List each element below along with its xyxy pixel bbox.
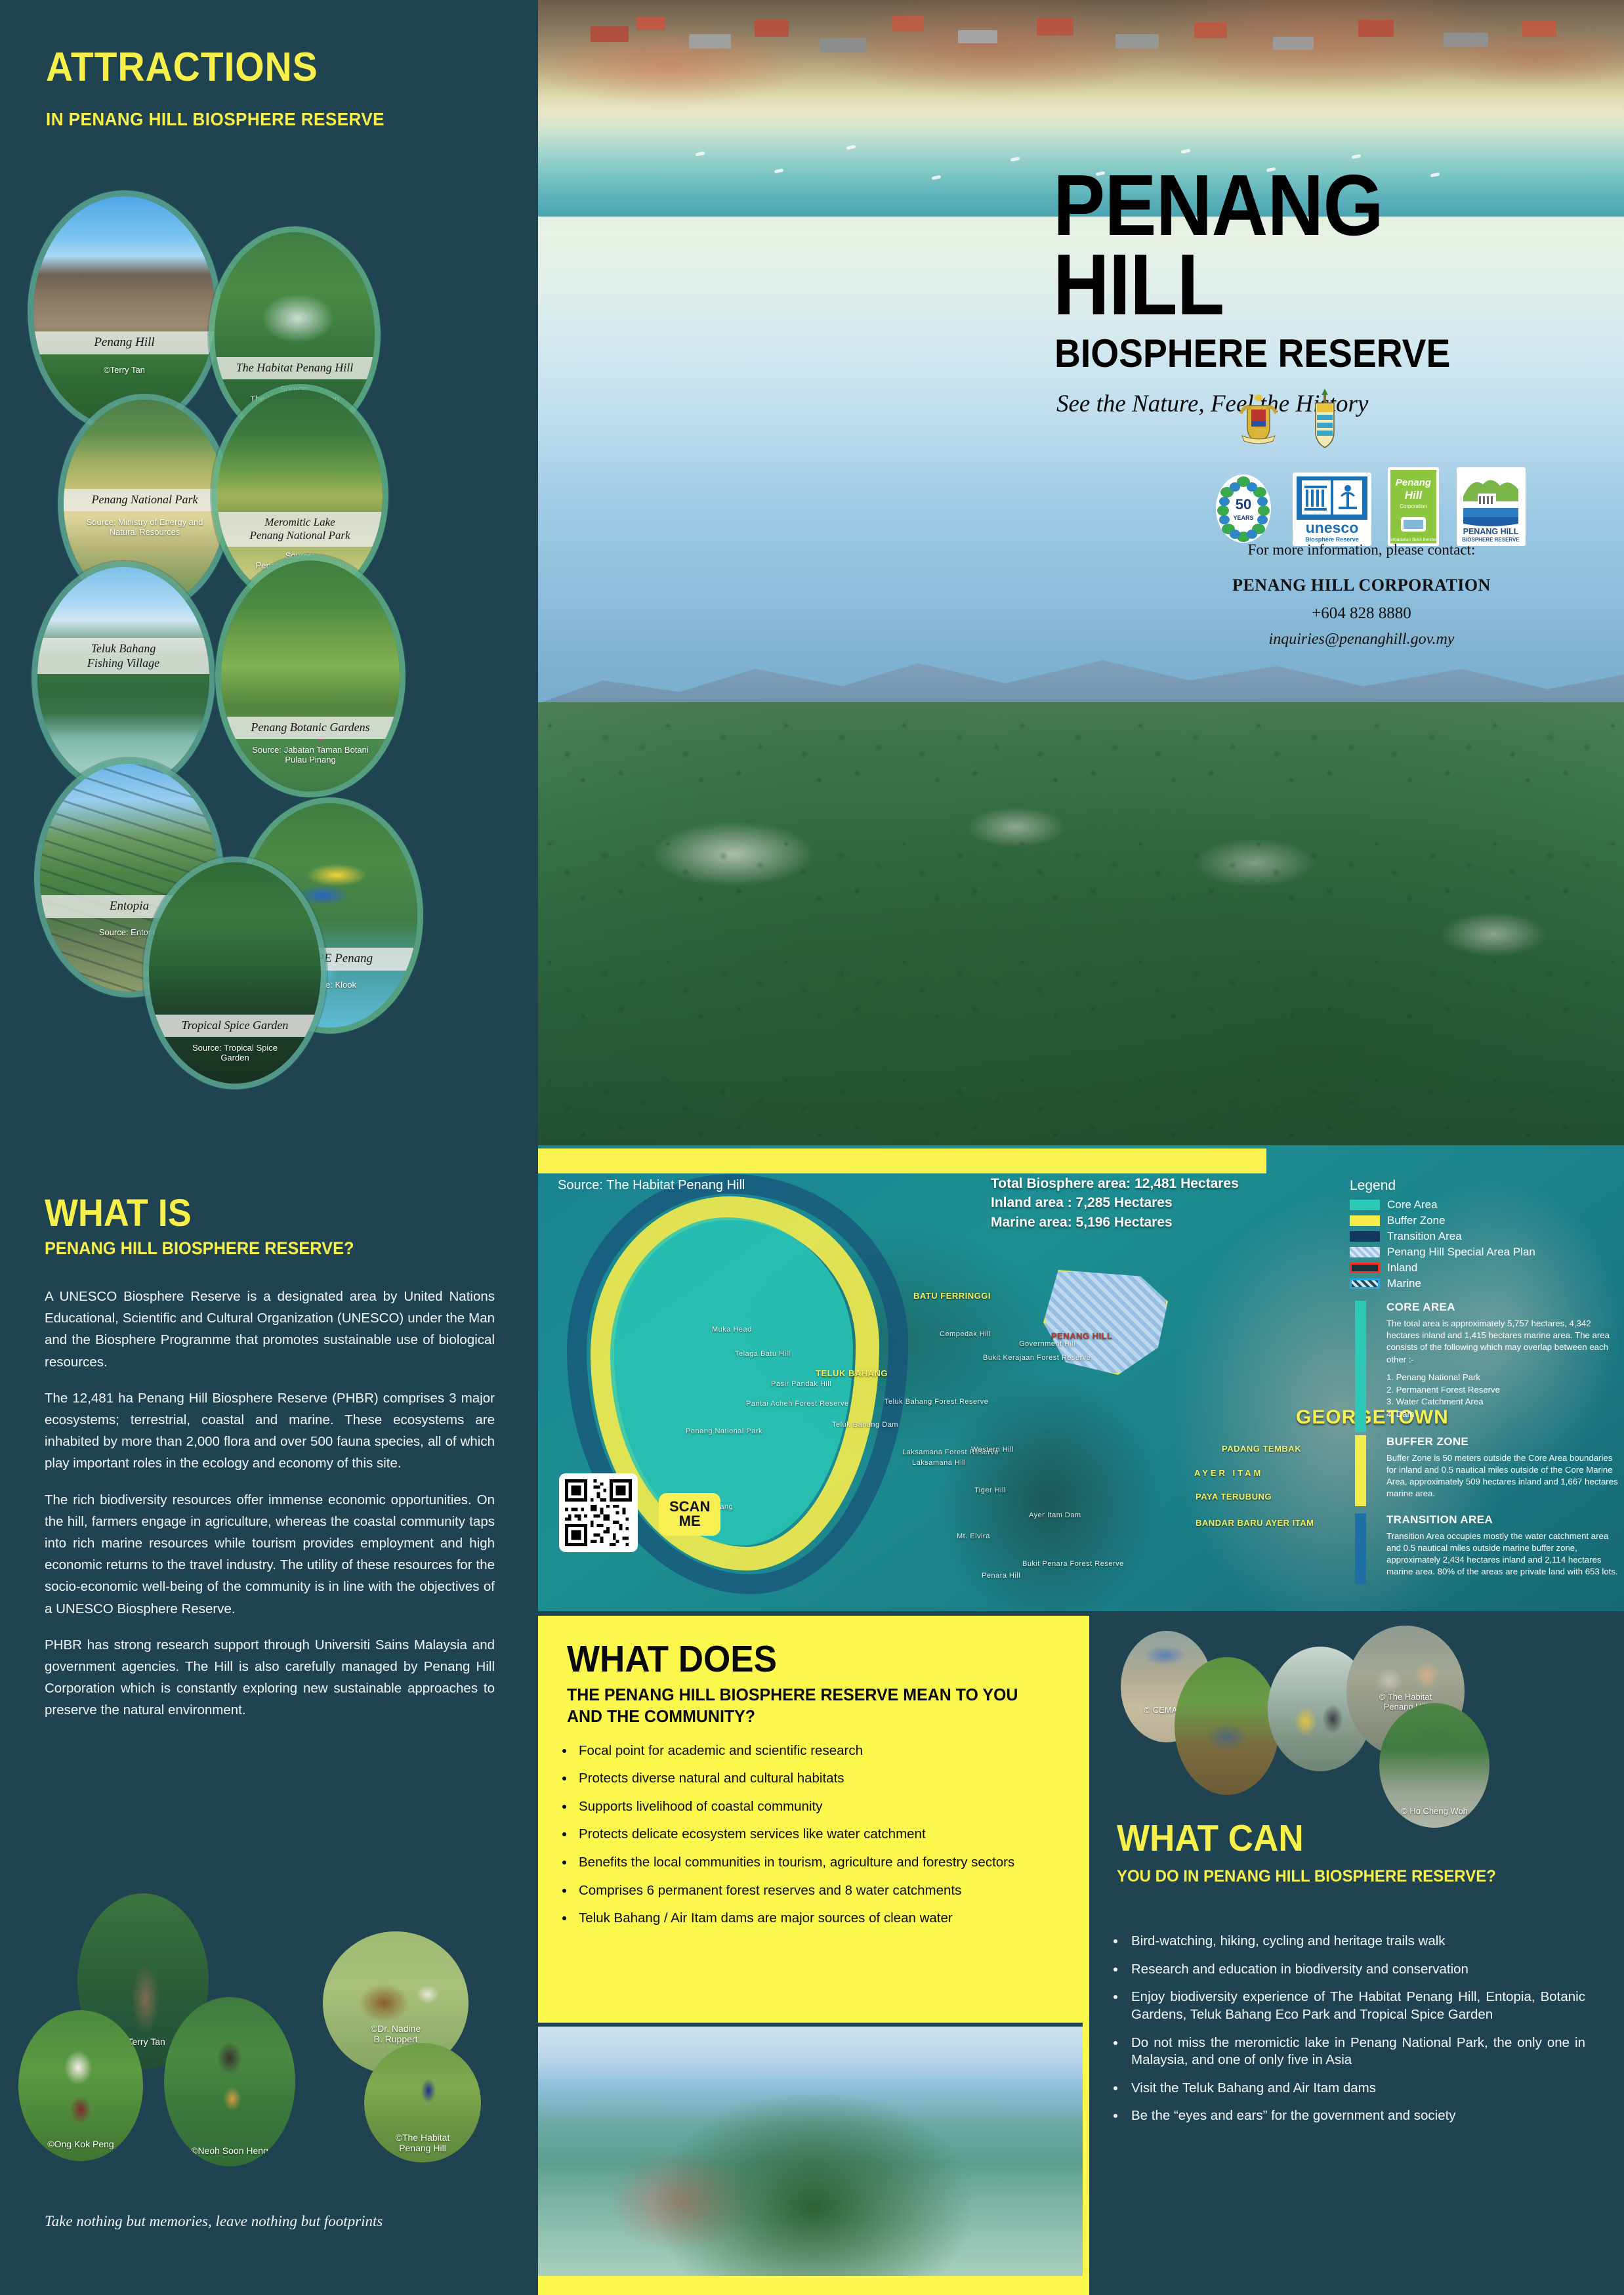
photo-credit: ©Neoh Soon Heng	[164, 2145, 295, 2156]
map-label-bukit-penara-fr: Bukit Penara Forest Reserve	[1022, 1560, 1124, 1568]
map-label-muka-head: Muka Head	[712, 1326, 752, 1334]
svg-text:YEARS: YEARS	[1233, 515, 1253, 521]
legend-heading: CORE AREA	[1386, 1301, 1619, 1314]
legend-label: Buffer Zone	[1387, 1214, 1446, 1227]
legend-list-item: 2. Permanent Forest Reserve	[1386, 1384, 1619, 1397]
attractions-subtitle: IN PENANG HILL BIOSPHERE RESERVE	[46, 109, 385, 130]
legend-swatch-marine	[1350, 1278, 1380, 1289]
attraction-source: Source: Ministry of Energy and Natural R…	[64, 518, 226, 537]
attraction-caption: Penang National Park	[64, 489, 226, 511]
what-can-subtitle: YOU DO IN PENANG HILL BIOSPHERE RESERVE?	[1117, 1866, 1558, 1887]
photo-credit: © Ho Cheng Woh	[1379, 1807, 1489, 1817]
penang-state-crest-logo	[1309, 387, 1341, 450]
list-item: Visit the Teluk Bahang and Air Itam dams	[1126, 2080, 1585, 2097]
legend-body: Transition Area occupies mostly the wate…	[1386, 1530, 1619, 1578]
what-is-paragraph: The rich biodiversity resources offer im…	[45, 1489, 495, 1620]
list-item: Protects delicate ecosystem services lik…	[575, 1826, 1060, 1843]
map-label-teluk-bahang-fr: Teluk Bahang Forest Reserve	[885, 1398, 988, 1406]
legend-list-item: 4. Dam	[1386, 1408, 1619, 1421]
photo-credit: ©The Habitat Penang Hill	[364, 2132, 481, 2153]
legend-list-item: 1. Penang National Park	[1386, 1372, 1619, 1384]
legend-list: 1. Penang National Park 2. Permanent For…	[1386, 1372, 1619, 1421]
map-label-cempedak-hill: Cempedak Hill	[940, 1330, 991, 1338]
yellow-side-strip	[1083, 2023, 1089, 2295]
attraction-caption: Tropical Spice Garden	[149, 1015, 321, 1037]
photo-credit: ©Dr. Nadine B. Ruppert	[323, 2023, 468, 2044]
contact-org: PENANG HILL CORPORATION	[1220, 576, 1503, 595]
wildlife-photo-dusky-langur: ©Neoh Soon Heng	[164, 1997, 295, 2166]
legend-block-core-area: CORE AREA The total area is approximatel…	[1350, 1301, 1619, 1429]
yellow-footer-strip	[538, 2276, 1089, 2295]
hero-forest-photo	[538, 702, 1624, 1145]
legend-swatch-inland	[1350, 1263, 1380, 1273]
list-item: Enjoy biodiversity experience of The Hab…	[1126, 1989, 1585, 2023]
qr-scan-block[interactable]: SCAN ME	[559, 1473, 638, 1552]
attraction-tropical-spice-garden: Tropical Spice Garden Source: Tropical S…	[143, 856, 327, 1089]
legend-row-buffer-zone: Buffer Zone	[1350, 1214, 1619, 1227]
map-label-bukit-kerajaan: Bukit Kerajaan Forest Reserve	[983, 1354, 1091, 1362]
legend-body: Buffer Zone is 50 meters outside the Cor…	[1386, 1452, 1619, 1500]
what-does-panel: WHAT DOES THE PENANG HILL BIOSPHERE RESE…	[538, 1616, 1089, 2023]
unesco-biosphere-reserve-logo: unesco Biosphere Reserve	[1293, 473, 1371, 546]
map-stat-marine: Marine area: 5,196 Hectares	[991, 1213, 1239, 1232]
svg-text:50: 50	[1236, 496, 1251, 513]
what-does-title: WHAT DOES	[567, 1641, 1026, 1678]
yellow-divider-bar	[538, 1148, 1266, 1173]
attraction-caption: Penang Botanic Gardens	[221, 717, 400, 739]
map-area-stats: Total Biosphere area: 12,481 Hectares In…	[991, 1174, 1239, 1232]
map-label-batu-ferringgi: BATU FERRINGGI	[913, 1291, 991, 1301]
map-label-ayer-itam-dam: Ayer Itam Dam	[1029, 1511, 1081, 1519]
map-label-ayer-itam: AYER ITAM	[1194, 1468, 1263, 1478]
contact-block: For more information, please contact: PE…	[1220, 541, 1503, 648]
map-stat-total: Total Biosphere area: 12,481 Hectares	[991, 1174, 1239, 1193]
map-label-mt-elvira: Mt. Elvira	[957, 1532, 990, 1540]
legend-block-buffer-zone: BUFFER ZONE Buffer Zone is 50 meters out…	[1350, 1435, 1619, 1507]
contact-email[interactable]: inquiries@penanghill.gov.my	[1220, 631, 1503, 648]
map-label-pasir-pandak: Pasir Pandak Hill	[771, 1380, 831, 1388]
hero-title-line2: HILL	[1053, 245, 1383, 324]
map-label-tiger-hill: Tiger Hill	[974, 1486, 1006, 1494]
legend-bar-transition-area	[1355, 1513, 1366, 1584]
attraction-source: Source: Tropical Spice Garden	[149, 1043, 321, 1063]
list-item: Supports livelihood of coastal community	[575, 1798, 1060, 1816]
what-does-list: Focal point for academic and scientific …	[575, 1742, 1060, 1927]
hero-title: PENANG HILL	[1053, 165, 1383, 325]
list-item: Focal point for academic and scientific …	[575, 1742, 1060, 1760]
map-label-penara-hill: Penara Hill	[982, 1572, 1020, 1580]
legend-label: Transition Area	[1387, 1230, 1462, 1243]
legend-heading: TRANSITION AREA	[1386, 1513, 1619, 1526]
what-is-paragraph: PHBR has strong research support through…	[45, 1634, 495, 1721]
aerial-island-photo	[538, 2027, 1089, 2276]
qr-code[interactable]	[559, 1473, 638, 1552]
attraction-caption: Meromitic Lake Penang National Park	[217, 512, 383, 547]
legend-label: Inland	[1387, 1261, 1417, 1274]
attraction-botanic-gardens: Penang Botanic Gardens Source: Jabatan T…	[215, 555, 406, 797]
list-item: Be the “eyes and ears” for the governmen…	[1126, 2107, 1585, 2125]
svg-text:PENANG HILL: PENANG HILL	[1463, 527, 1519, 536]
svg-text:Penang: Penang	[1396, 477, 1431, 488]
legend-swatch-core-area	[1350, 1200, 1380, 1210]
fifty-years-emblem-logo: 50 YEARS	[1214, 473, 1273, 545]
map-label-teluk-bahang-dam: Teluk Bahang Dam	[832, 1421, 898, 1429]
map-label-padang-tembak: PADANG TEMBAK	[1222, 1444, 1301, 1454]
map-label-western-hill: Western Hill	[971, 1446, 1014, 1454]
map-legend: Legend Core Area Buffer Zone Transition …	[1350, 1178, 1619, 1578]
what-can-panel: © CEMACS © The Habitat Penang Hill © Ho …	[1089, 1611, 1624, 2295]
wildlife-photo-cluster: ©Terry Tan ©Dr. Nadine B. Ruppert ©Ong K…	[0, 1879, 538, 2187]
hero-subtitle: BIOSPHERE RESERVE	[1054, 331, 1450, 376]
what-is-title: WHAT IS	[45, 1194, 192, 1232]
legend-label: Penang Hill Special Area Plan	[1387, 1246, 1535, 1259]
map-source-label: Source: The Habitat Penang Hill	[558, 1178, 745, 1193]
list-item: Research and education in biodiversity a…	[1126, 1961, 1585, 1979]
photo-penang-hill	[33, 196, 215, 427]
list-item: Bird-watching, hiking, cycling and herit…	[1126, 1933, 1585, 1950]
legend-row-inland: Inland	[1350, 1261, 1619, 1274]
wildlife-photo-slipper-orchid: ©Ong Kok Peng	[18, 2010, 143, 2161]
what-does-subtitle: THE PENANG HILL BIOSPHERE RESERVE MEAN T…	[567, 1684, 1041, 1728]
activity-photo-cycling: © Ho Cheng Woh	[1379, 1703, 1489, 1828]
attraction-caption: The Habitat Penang Hill	[215, 357, 375, 379]
what-is-paragraph: A UNESCO Biosphere Reserve is a designat…	[45, 1286, 495, 1373]
legend-title: Legend	[1350, 1178, 1619, 1194]
attraction-source: Source: Jabatan Taman Botani Pulau Pinan…	[221, 746, 400, 765]
what-can-list: Bird-watching, hiking, cycling and herit…	[1126, 1933, 1585, 2136]
legend-bar-core-area	[1355, 1301, 1366, 1432]
wildlife-photo-blue-bird: ©The Habitat Penang Hill	[364, 2043, 481, 2162]
map-label-telaga-batu-hill: Telaga Batu Hill	[735, 1350, 790, 1358]
contact-phone[interactable]: +604 828 8880	[1220, 604, 1503, 623]
what-is-panel: WHAT IS PENANG HILL BIOSPHERE RESERVE? A…	[0, 1145, 538, 2295]
list-item: Teluk Bahang / Air Itam dams are major s…	[575, 1910, 1060, 1927]
legend-list-item: 3. Water Catchment Area	[1386, 1396, 1619, 1408]
map-label-laksamana-hill: Laksamana Hill	[912, 1459, 966, 1467]
legend-bar-buffer-zone	[1355, 1435, 1366, 1506]
legend-heading: BUFFER ZONE	[1386, 1435, 1619, 1448]
contact-intro: For more information, please contact:	[1220, 541, 1503, 558]
legend-row-transition-area: Transition Area	[1350, 1230, 1619, 1243]
hero-panel: PENANG HILL BIOSPHERE RESERVE See the Na…	[538, 0, 1624, 1145]
what-is-paragraph: The 12,481 ha Penang Hill Biosphere Rese…	[45, 1387, 495, 1475]
svg-text:unesco: unesco	[1306, 519, 1359, 536]
attraction-source: ©Terry Tan	[33, 366, 215, 375]
attraction-caption: Teluk Bahang Fishing Village	[37, 638, 209, 674]
legend-row-marine: Marine	[1350, 1277, 1619, 1290]
penang-hill-corporation-logo: Penang Hill Corporation Perbadanan Bukit…	[1388, 467, 1439, 546]
legend-body: The total area is approximately 5,757 he…	[1386, 1318, 1619, 1366]
list-item: Benefits the local communities in touris…	[575, 1854, 1060, 1872]
list-item: Do not miss the meromictic lake in Penan…	[1126, 2034, 1585, 2069]
list-item: Protects diverse natural and cultural ha…	[575, 1770, 1060, 1788]
scan-me-badge[interactable]: SCAN ME	[659, 1493, 720, 1536]
photo-teluk-bahang	[37, 567, 209, 788]
legend-swatch-transition-area	[1350, 1231, 1380, 1242]
legend-row-special-area-plan: Penang Hill Special Area Plan	[1350, 1246, 1619, 1259]
activity-photo-cluster: © CEMACS © The Habitat Penang Hill © Ho …	[1089, 1611, 1624, 1828]
photo-credit: ©Ong Kok Peng	[18, 2139, 143, 2149]
map-label-penang-national-park: Penang National Park	[686, 1427, 762, 1435]
legend-row-core-area: Core Area	[1350, 1198, 1619, 1211]
what-is-body: A UNESCO Biosphere Reserve is a designat…	[45, 1286, 495, 1736]
legend-swatch-buffer-zone	[1350, 1215, 1380, 1226]
malaysia-coat-of-arms-logo	[1237, 394, 1280, 448]
legend-label: Core Area	[1387, 1198, 1438, 1211]
map-label-teluk-bahang: TELUK BAHANG	[816, 1368, 888, 1378]
map-label-penang-hill: PENANG HILL	[1051, 1331, 1113, 1341]
map-label-paya-terubung: PAYA TERUBUNG	[1196, 1492, 1272, 1502]
legend-swatch-special-area-plan	[1350, 1247, 1380, 1257]
map-label-bandar-baru: BANDAR BARU AYER ITAM	[1196, 1518, 1314, 1528]
brochure-page: ATTRACTIONS IN PENANG HILL BIOSPHERE RES…	[0, 0, 1624, 2295]
attractions-panel: ATTRACTIONS IN PENANG HILL BIOSPHERE RES…	[0, 0, 538, 1145]
list-item: Comprises 6 permanent forest reserves an…	[575, 1882, 1060, 1900]
legend-label: Marine	[1387, 1277, 1421, 1290]
svg-text:Corporation: Corporation	[1400, 503, 1427, 509]
svg-text:Hill: Hill	[1405, 489, 1423, 501]
map-label-government-hill: Government Hill	[1019, 1340, 1075, 1348]
legend-block-transition-area: TRANSITION AREA Transition Area occupies…	[1350, 1513, 1619, 1578]
what-is-subtitle: PENANG HILL BIOSPHERE RESERVE?	[45, 1238, 354, 1259]
attraction-caption: Penang Hill	[33, 331, 215, 354]
footprints-quote: Take nothing but memories, leave nothing…	[45, 2213, 383, 2230]
activity-photo-hiking	[1175, 1657, 1280, 1795]
attractions-title: ATTRACTIONS	[46, 47, 318, 88]
what-can-title: WHAT CAN	[1117, 1820, 1304, 1857]
map-label-pantai-acheh: Pantai Acheh Forest Reserve	[746, 1400, 849, 1408]
penang-hill-biosphere-reserve-logo: PENANG HILL BIOSPHERE RESERVE	[1457, 467, 1526, 546]
map-stat-inland: Inland area : 7,285 Hectares	[991, 1193, 1239, 1212]
hero-title-line1: PENANG	[1053, 165, 1383, 245]
